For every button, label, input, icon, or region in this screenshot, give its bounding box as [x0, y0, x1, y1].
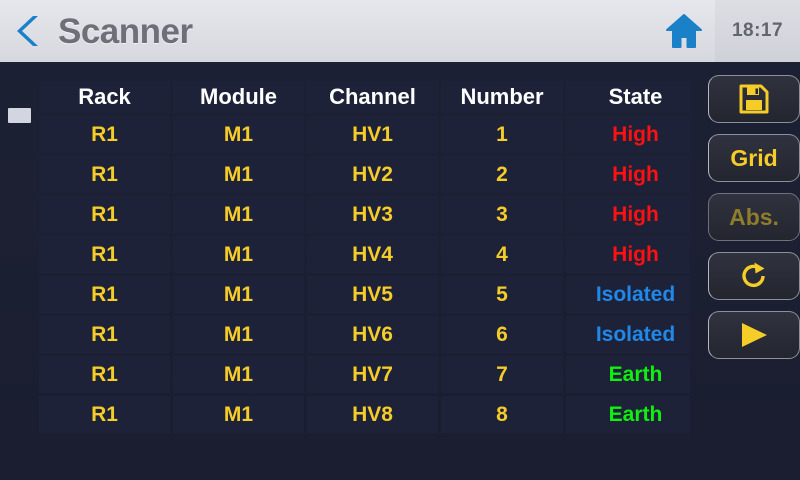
scan-table-container[interactable]: Rack Module Channel Number State R1M1HV1…	[36, 78, 690, 480]
column-header-rack: Rack	[39, 81, 170, 113]
cell-number: 7	[441, 356, 563, 393]
cell-channel: HV3	[307, 196, 438, 233]
abs-button-label: Abs.	[729, 204, 779, 231]
column-header-channel: Channel	[307, 81, 438, 113]
column-header-module: Module	[173, 81, 304, 113]
table-row[interactable]: R1M1HV44High	[39, 236, 690, 273]
cell-rack: R1	[39, 276, 170, 313]
cell-number: 3	[441, 196, 563, 233]
table-row[interactable]: R1M1HV11High	[39, 116, 690, 153]
cell-rack: R1	[39, 356, 170, 393]
cell-channel: HV4	[307, 236, 438, 273]
cell-module: M1	[173, 116, 304, 153]
chevron-left-icon	[16, 14, 42, 48]
cell-channel: HV7	[307, 356, 438, 393]
cell-state: Isolated	[566, 276, 690, 313]
cell-number: 5	[441, 276, 563, 313]
scan-table: Rack Module Channel Number State R1M1HV1…	[36, 78, 690, 436]
table-header: Rack Module Channel Number State	[39, 81, 690, 113]
table-row[interactable]: R1M1HV33High	[39, 196, 690, 233]
abs-button[interactable]: Abs.	[708, 193, 800, 241]
page-title: Scanner	[58, 14, 193, 49]
cell-state: High	[566, 116, 690, 153]
cell-number: 1	[441, 116, 563, 153]
table-row[interactable]: R1M1HV88Earth	[39, 396, 690, 433]
cell-channel: HV5	[307, 276, 438, 313]
cell-channel: HV2	[307, 156, 438, 193]
top-bar: Scanner 18:17	[0, 0, 800, 62]
cell-module: M1	[173, 236, 304, 273]
cell-state: Earth	[566, 396, 690, 433]
home-icon	[666, 14, 702, 48]
home-button[interactable]	[653, 0, 715, 62]
grid-button[interactable]: Grid	[708, 134, 800, 182]
cell-channel: HV1	[307, 116, 438, 153]
column-header-number: Number	[441, 81, 563, 113]
cell-module: M1	[173, 396, 304, 433]
refresh-button[interactable]	[708, 252, 800, 300]
right-toolbar: GridAbs.	[700, 62, 800, 480]
cell-number: 4	[441, 236, 563, 273]
cell-module: M1	[173, 196, 304, 233]
cell-channel: HV6	[307, 316, 438, 353]
run-button[interactable]	[708, 311, 800, 359]
cell-state: High	[566, 156, 690, 193]
clock-time: 18:17	[732, 20, 783, 42]
cell-module: M1	[173, 356, 304, 393]
cell-module: M1	[173, 276, 304, 313]
table-row[interactable]: R1M1HV55Isolated	[39, 276, 690, 313]
table-row[interactable]: R1M1HV77Earth	[39, 356, 690, 393]
play-icon	[737, 320, 771, 350]
cell-rack: R1	[39, 116, 170, 153]
save-button[interactable]	[708, 75, 800, 123]
scrollbar-handle[interactable]	[8, 108, 31, 123]
table-row[interactable]: R1M1HV66Isolated	[39, 316, 690, 353]
cell-number: 6	[441, 316, 563, 353]
cell-rack: R1	[39, 396, 170, 433]
cell-number: 8	[441, 396, 563, 433]
cell-rack: R1	[39, 236, 170, 273]
cell-rack: R1	[39, 316, 170, 353]
column-header-state: State	[566, 81, 690, 113]
cell-module: M1	[173, 316, 304, 353]
cell-channel: HV8	[307, 396, 438, 433]
cell-state: Earth	[566, 356, 690, 393]
clock-panel: 18:17	[715, 0, 800, 62]
cell-state: Isolated	[566, 316, 690, 353]
table-header-row: Rack Module Channel Number State	[39, 81, 690, 113]
cell-module: M1	[173, 156, 304, 193]
back-button[interactable]	[0, 0, 58, 62]
cell-state: High	[566, 236, 690, 273]
scanner-screen: Scanner 18:17 Rack Module Channel	[0, 0, 800, 480]
table-body: R1M1HV11HighR1M1HV22HighR1M1HV33HighR1M1…	[39, 116, 690, 433]
refresh-icon	[739, 261, 769, 291]
cell-rack: R1	[39, 196, 170, 233]
table-row[interactable]: R1M1HV22High	[39, 156, 690, 193]
floppy-disk-icon	[739, 84, 769, 114]
grid-button-label: Grid	[730, 145, 777, 172]
cell-rack: R1	[39, 156, 170, 193]
cell-number: 2	[441, 156, 563, 193]
cell-state: High	[566, 196, 690, 233]
vertical-scrollbar[interactable]	[0, 62, 34, 480]
